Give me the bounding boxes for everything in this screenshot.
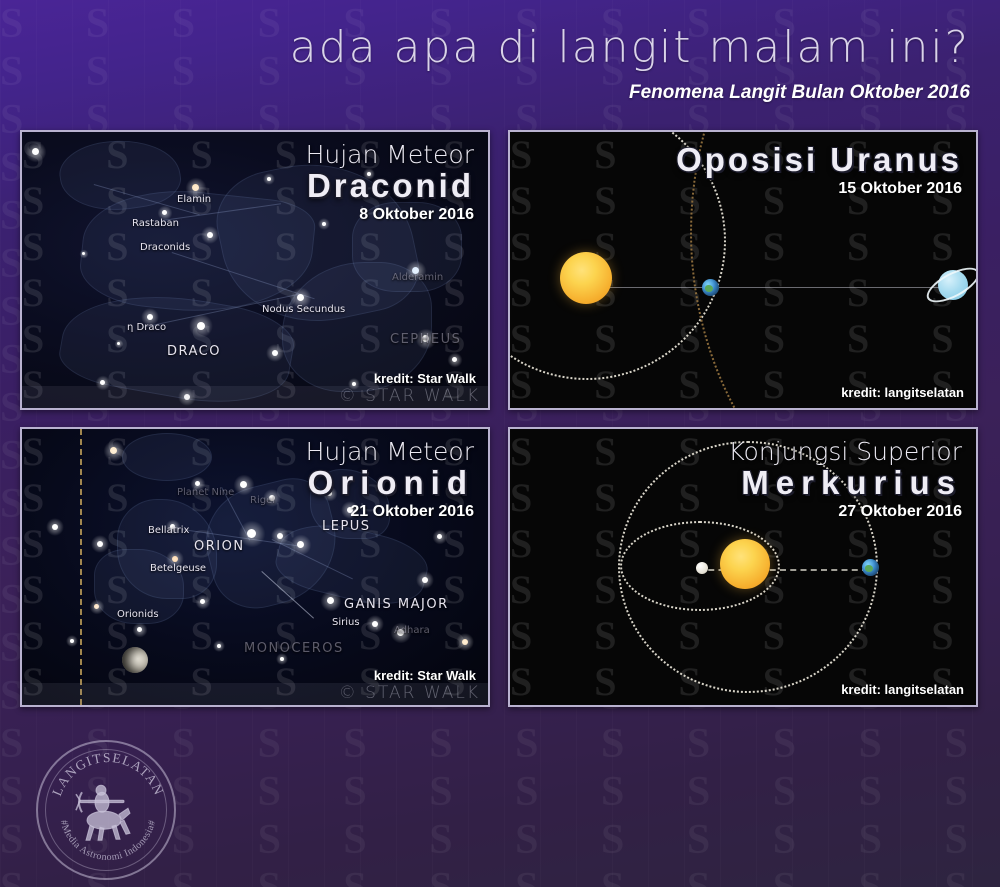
earth [862, 559, 879, 576]
constellation-label-draco: DRACO [167, 344, 221, 359]
star [437, 534, 442, 539]
star [217, 644, 221, 648]
constellation-label-canis-major: GANIS MAJOR [344, 597, 449, 612]
star [240, 481, 247, 488]
star-label-nodus-secundus: Nodus Secundus [262, 304, 345, 315]
star-label-adhara: Adhara [394, 625, 430, 636]
page-title: ada apa di langit malam ini? [290, 22, 970, 73]
page-subtitle: Fenomena Langit Bulan Oktober 2016 [629, 82, 970, 104]
constellation-label-monoceros: MONOCEROS [244, 641, 344, 656]
star [272, 350, 278, 356]
star [137, 627, 142, 632]
panel-heading-orionid: Hujan Meteor Orionid 21 Oktober 2016 [306, 439, 474, 521]
panel-credit: kredit: Star Walk [374, 371, 476, 386]
star [422, 577, 428, 583]
star [117, 342, 120, 345]
star [52, 524, 58, 530]
star-label-betelgeuse: Betelgeuse [150, 563, 206, 574]
star-label-elamin: Elamin [177, 194, 211, 205]
star [110, 447, 117, 454]
panel-heading-uranus: Oposisi Uranus 15 Oktober 2016 [676, 142, 962, 198]
panel-credit: kredit: Star Walk [374, 668, 476, 683]
star-label-sirius: Sirius [332, 617, 360, 628]
star-betelgeuse [172, 556, 178, 562]
star-nodus-secundus [297, 294, 304, 301]
panel-date: 8 Oktober 2016 [306, 206, 474, 224]
starwalk-watermark: © STAR WALK [339, 683, 480, 703]
panel-uranus[interactable]: S S S S S S S S S S S S S S S S S S S S … [508, 130, 978, 410]
star-label-orionids: Orionids [117, 609, 159, 620]
panel-draconid[interactable]: S S S S S S S S S S S S S S S S S S S S … [20, 130, 490, 410]
panel-name: Draconid [306, 169, 474, 202]
star [267, 177, 271, 181]
star [82, 252, 85, 255]
star [247, 529, 256, 538]
panel-kicker: Hujan Meteor [306, 439, 474, 465]
ecliptic-line [80, 429, 82, 705]
panel-credit: kredit: langitselatan [841, 682, 964, 697]
panel-credit: kredit: langitselatan [841, 385, 964, 400]
star-elamin [192, 184, 199, 191]
star [277, 533, 283, 539]
panel-date: 15 Oktober 2016 [676, 180, 962, 198]
panel-merkurius[interactable]: S S S S S S S S S S S S S S S S S S S S … [508, 427, 978, 707]
constellation-label-cepheus: CEPHEUS [390, 332, 461, 347]
panel-heading-merkurius: Konjungsi Superior Merkurius 27 Oktober … [728, 439, 962, 521]
panel-heading-draconid: Hujan Meteor Draconid 8 Oktober 2016 [306, 142, 474, 224]
mercury [696, 562, 708, 574]
star-label-planet-nine: Planet Nine [177, 487, 234, 498]
moon [122, 647, 148, 673]
poster-footer: LANGITSELATAN #Media Astronomi Indonesia… [0, 716, 1000, 887]
star-sirius [327, 597, 334, 604]
star-label-eta-draco: η Draco [127, 322, 166, 333]
panel-kicker: Konjungsi Superior [728, 439, 962, 465]
panel-name: Orionid [306, 466, 474, 499]
star-label-rigel: Rigel [250, 495, 275, 506]
star [372, 621, 378, 627]
star [32, 148, 39, 155]
panel-name: Oposisi Uranus [676, 143, 962, 176]
star-rastaban [162, 210, 167, 215]
sun [560, 252, 612, 304]
star-eta-draco [147, 314, 153, 320]
star [195, 481, 200, 486]
star [280, 657, 284, 661]
star [207, 232, 213, 238]
star [100, 380, 105, 385]
star [462, 639, 468, 645]
panel-name: Merkurius [728, 466, 962, 499]
alignment-line [590, 287, 940, 288]
constellation-figure-shape [122, 433, 212, 481]
constellation-label-orion: ORION [194, 539, 245, 554]
star [94, 604, 99, 609]
constellation-label-lepus: LEPUS [322, 519, 371, 534]
star-label-rastaban: Rastaban [132, 218, 179, 229]
langitselatan-logo[interactable]: LANGITSELATAN #Media Astronomi Indonesia… [36, 740, 176, 880]
star [70, 639, 74, 643]
star [97, 541, 103, 547]
star [452, 357, 457, 362]
star [200, 599, 205, 604]
star-label-bellatrix: Bellatrix [148, 525, 189, 536]
panel-kicker: Hujan Meteor [306, 142, 474, 168]
star [297, 541, 304, 548]
starwalk-watermark: © STAR WALK [339, 386, 480, 406]
star-label-draconids: Draconids [140, 242, 190, 253]
sun [720, 539, 770, 589]
star-label-alderamin: Alderamin [392, 272, 443, 283]
earth [702, 279, 719, 296]
panel-orionid[interactable]: S S S S S S S S S S S S S S S S S S S S … [20, 427, 490, 707]
star [197, 322, 205, 330]
panel-date: 27 Oktober 2016 [728, 503, 962, 521]
poster-header: ada apa di langit malam ini? Fenomena La… [0, 0, 1000, 122]
sagittarius-archer-icon [70, 780, 142, 842]
